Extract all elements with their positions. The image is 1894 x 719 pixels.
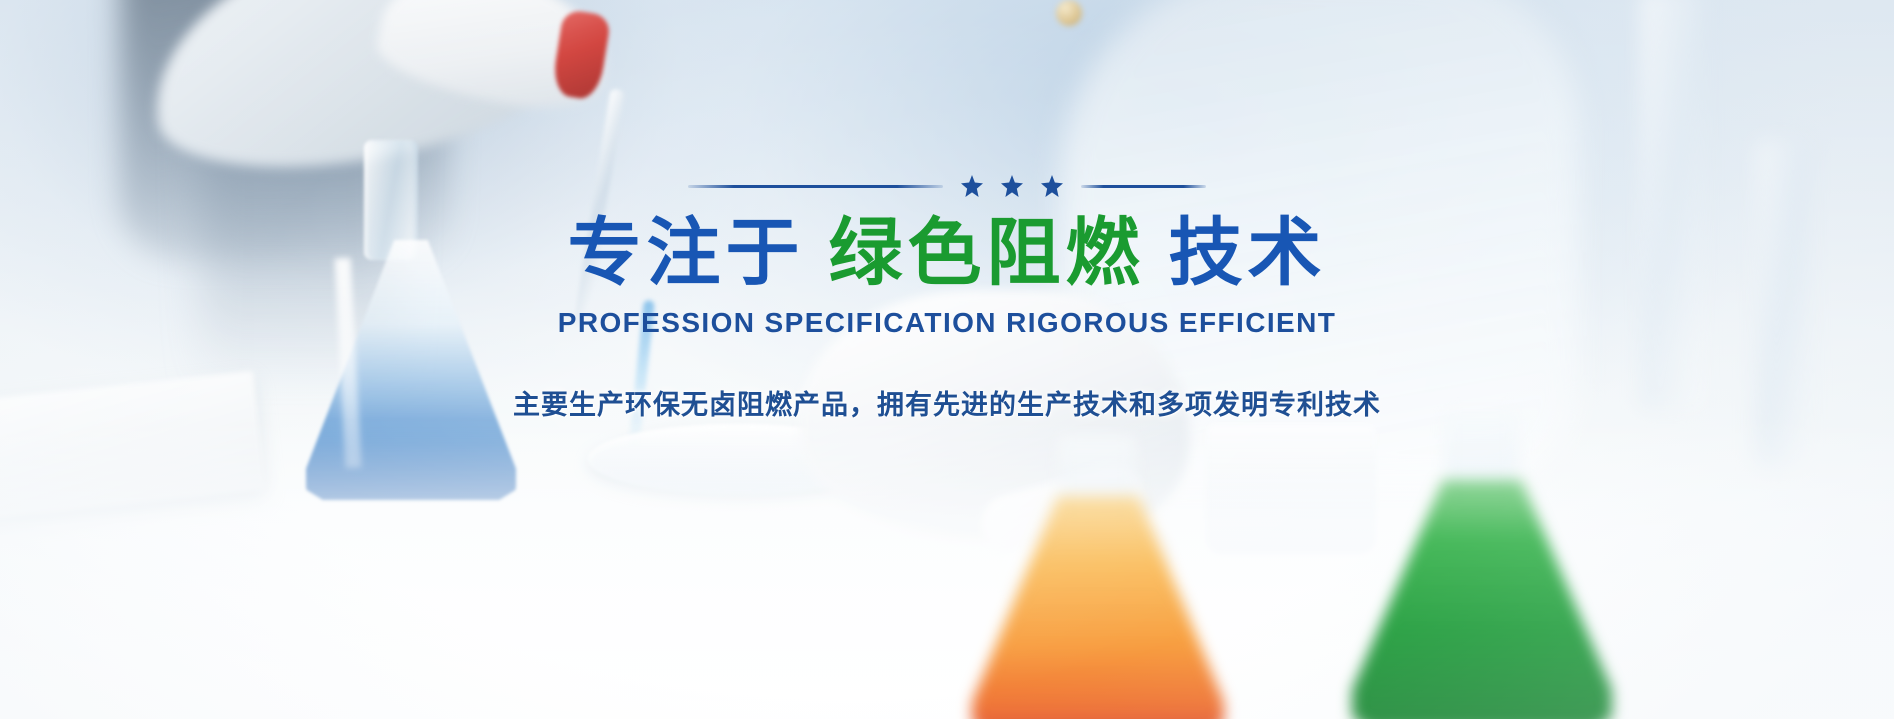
divider-stars: [943, 175, 1081, 197]
hero-banner: 专注于 绿色阻燃 技术 PROFESSION SPECIFICATION RIG…: [0, 0, 1894, 719]
star-divider: [688, 175, 1206, 197]
banner-description: 主要生产环保无卤阻燃产品，拥有先进的生产技术和多项发明专利技术: [513, 383, 1381, 422]
headline-segment-3: 技术: [1169, 213, 1327, 293]
star-icon: [1041, 175, 1063, 197]
divider-line-left: [688, 185, 943, 188]
star-icon: [961, 175, 983, 197]
page-title: 专注于 绿色阻燃 技术: [568, 213, 1327, 293]
headline-segment-2: 绿色阻燃: [829, 213, 1145, 293]
divider-line-right: [1081, 185, 1206, 188]
star-icon: [1001, 175, 1023, 197]
headline-segment-1: 专注于: [568, 213, 805, 293]
banner-subtitle: PROFESSION SPECIFICATION RIGOROUS EFFICI…: [558, 307, 1336, 339]
banner-content: 专注于 绿色阻燃 技术 PROFESSION SPECIFICATION RIG…: [0, 0, 1894, 719]
